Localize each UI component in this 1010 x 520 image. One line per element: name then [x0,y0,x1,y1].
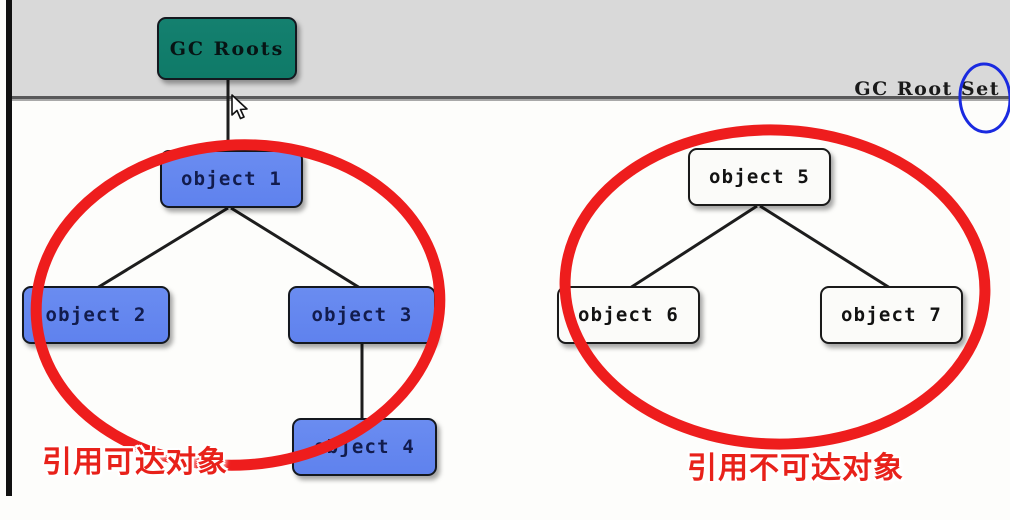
gc-root-set-label: GC Root Set [854,78,1000,100]
edge-object5-object6 [630,206,757,288]
node-object-2-label: object 2 [45,304,146,326]
node-object-4-label: object 4 [314,436,415,458]
node-object-6-label: object 6 [578,304,679,326]
node-gc-roots-label: GC Roots [170,38,285,60]
edge-object1-object2 [97,208,228,288]
node-gc-roots[interactable]: GC Roots [157,17,297,80]
node-object-2[interactable]: object 2 [22,286,170,344]
annotation-unreachable-objects: 引用不可达对象 [687,443,904,487]
node-object-5-label: object 5 [709,166,810,188]
node-object-6[interactable]: object 6 [557,286,700,344]
edge-object1-object3 [231,208,360,288]
node-object-5[interactable]: object 5 [688,148,831,206]
node-object-7-label: object 7 [841,304,942,326]
node-object-1-label: object 1 [181,168,282,190]
node-object-3[interactable]: object 3 [288,286,436,344]
edge-object5-object7 [760,206,890,288]
node-object-3-label: object 3 [311,304,412,326]
mouse-cursor-icon [231,94,253,124]
node-object-7[interactable]: object 7 [820,286,963,344]
diagram-canvas: GC Roots object 1 object 2 object 3 obje… [0,0,1010,520]
node-object-1[interactable]: object 1 [160,150,303,208]
node-object-4[interactable]: object 4 [292,418,437,476]
annotation-reachable-objects: 引用可达对象 [42,437,228,481]
